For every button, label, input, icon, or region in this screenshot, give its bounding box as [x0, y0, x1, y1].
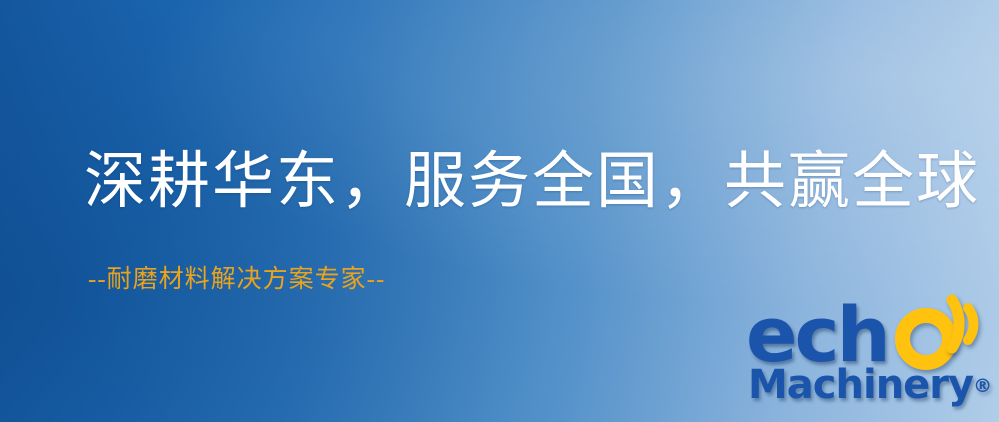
logo-subbrand: Machinery® [748, 362, 992, 408]
echo-machinery-logo: ech Machinery® [742, 296, 992, 416]
echo-signal-arcs-icon [938, 290, 999, 356]
banner-headline: 深耕华东，服务全国，共赢全球 [84, 150, 980, 215]
banner-subtitle: --耐磨材料解决方案专家-- [88, 266, 385, 294]
registered-trademark-icon: ® [973, 375, 992, 397]
logo-subbrand-text: Machinery [748, 362, 973, 408]
promo-banner: 深耕华东，服务全国，共赢全球 --耐磨材料解决方案专家-- ech Machin… [0, 0, 999, 422]
